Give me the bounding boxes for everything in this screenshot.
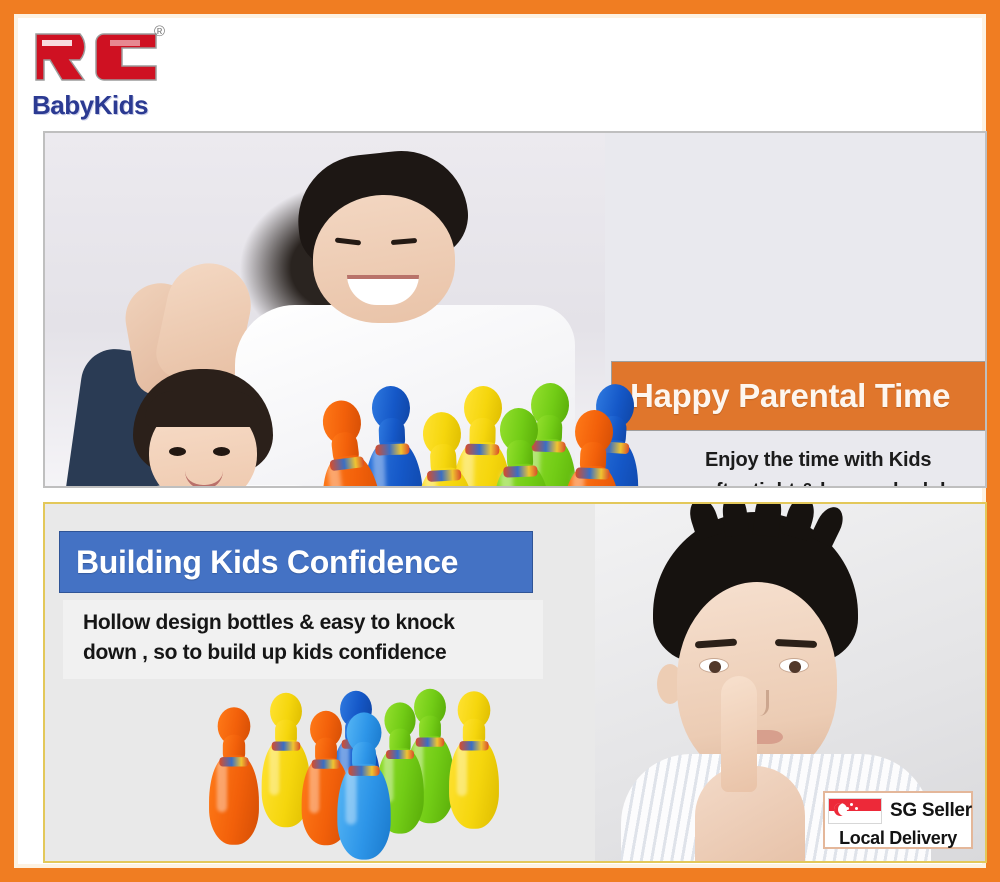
father-eye-right	[391, 238, 417, 245]
boy-eye-left	[699, 658, 729, 673]
girl-fringe	[145, 391, 261, 427]
ad-canvas: ® BabyKids	[14, 14, 986, 868]
girl-eye-right	[213, 447, 230, 456]
bottom-banner-label: Building Kids Confidence	[60, 544, 458, 581]
father-face	[313, 195, 455, 323]
boy-eyebrow-left	[695, 639, 737, 649]
brand-logo[interactable]: ® BabyKids	[32, 26, 222, 121]
bowling-pin	[337, 712, 390, 859]
bottom-subtext-line2: down , so to build up kids confidence	[83, 638, 533, 668]
bottom-subtext-line1: Hollow design bottles & easy to knock	[83, 608, 533, 638]
top-subtext-line2: after tight & busy schedule.	[705, 476, 987, 488]
happy-parental-time-banner: Happy Parental Time	[611, 361, 987, 431]
girl-eye-left	[169, 447, 186, 456]
registered-trademark-icon: ®	[154, 24, 165, 39]
bowling-pin	[412, 411, 478, 488]
father-eye-left	[335, 237, 361, 245]
bowling-pins-top-group	[320, 378, 650, 488]
girl-smile	[185, 471, 223, 488]
top-banner-label: Happy Parental Time	[612, 377, 950, 415]
singapore-flag-icon	[828, 798, 882, 824]
bottom-subtext: Hollow design bottles & easy to knock do…	[63, 600, 543, 679]
top-subtext-line1: Enjoy the time with Kids	[705, 445, 987, 476]
bowling-pin	[209, 707, 259, 845]
bowling-pin	[489, 407, 553, 488]
top-subtext: Enjoy the time with Kids after tight & b…	[705, 445, 987, 488]
boy-eye-right	[779, 658, 809, 673]
rc-logomark-icon: ®	[32, 26, 167, 88]
top-feature-panel: Happy Parental Time Enjoy the time with …	[43, 131, 987, 488]
boy-thumb-up-icon	[721, 676, 757, 792]
sg-seller-badge: SG Seller Local Delivery	[823, 791, 973, 849]
local-delivery-label: Local Delivery	[828, 826, 968, 850]
brand-wordmark: BabyKids	[32, 90, 222, 121]
boy-thumbs-up-photo: SG Seller Local Delivery	[595, 504, 985, 861]
bowling-pin	[560, 409, 624, 488]
sg-badge-top-row: SG Seller	[828, 796, 968, 826]
sg-seller-label: SG Seller	[882, 800, 972, 822]
building-kids-confidence-banner: Building Kids Confidence	[59, 531, 533, 593]
ad-frame: ® BabyKids	[0, 0, 1000, 882]
father-smile	[347, 275, 419, 305]
bottom-feature-panel: Building Kids Confidence Hollow design b…	[43, 502, 987, 863]
bowling-pins-bottom-group	[205, 674, 505, 859]
boy-hair-spike	[753, 504, 784, 537]
boy-face	[677, 582, 837, 778]
boy-hair-spike	[721, 504, 749, 537]
bowling-pin	[449, 691, 499, 829]
boy-eyebrow-right	[775, 639, 817, 648]
